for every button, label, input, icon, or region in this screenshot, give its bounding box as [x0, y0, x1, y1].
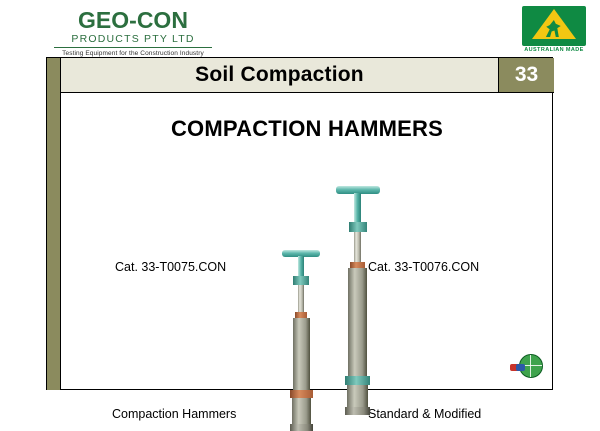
product-photo-area [62, 94, 552, 389]
page-number: 33 [515, 63, 538, 87]
compaction-hammer-modified-image [328, 186, 392, 416]
compaction-hammer-standard-image [276, 250, 336, 430]
hammer-main-sleeve-left [293, 318, 310, 390]
hammer-t-handle-stem-right [354, 193, 361, 225]
slide-title-container: Soil Compaction [61, 58, 499, 93]
page-number-box: 33 [499, 58, 554, 93]
hammer-collar-right [349, 222, 367, 232]
hammer-upper-rod-right [354, 232, 361, 264]
australian-made-logo: AUSTRALIAN MADE [522, 6, 586, 58]
caption-left: Compaction Hammers [112, 407, 236, 421]
geo-con-logo: GEO-CON PRODUCTS PTY LTD Testing Equipme… [48, 8, 218, 58]
logo-title: GEO-CON [48, 8, 218, 32]
hammer-main-sleeve-right [348, 268, 367, 378]
hammer-collar-left [293, 276, 309, 285]
hammer-upper-rod-left [298, 285, 304, 313]
logo-subtitle: PRODUCTS PTY LTD [48, 33, 218, 45]
globe-meridian-vertical [530, 355, 531, 377]
australian-made-label: AUSTRALIAN MADE [522, 46, 586, 54]
geo-con-globe-icon [510, 354, 543, 381]
left-accent-strip [47, 93, 61, 390]
hammer-foot-right [345, 407, 370, 415]
hammer-copper-band-lower-left [290, 390, 313, 398]
hammer-foot-left [290, 424, 313, 431]
hammer-teal-band-right [345, 376, 370, 385]
slide-title: Soil Compaction [195, 63, 364, 87]
slide-frame: Soil Compaction 33 COMPACTION HAMMERS Ca… [46, 57, 553, 390]
slide-title-bar: Soil Compaction 33 [47, 58, 554, 93]
hammer-lower-barrel-right [347, 385, 368, 409]
hammer-t-handle-stem-left [298, 256, 304, 278]
logo-divider [54, 47, 212, 48]
title-left-accent-strip [47, 58, 61, 93]
globe-blue-block [516, 364, 525, 371]
slide-content: COMPACTION HAMMERS Cat. 33-T0075.CON Cat… [62, 94, 552, 389]
hammer-lower-barrel-left [292, 398, 311, 426]
